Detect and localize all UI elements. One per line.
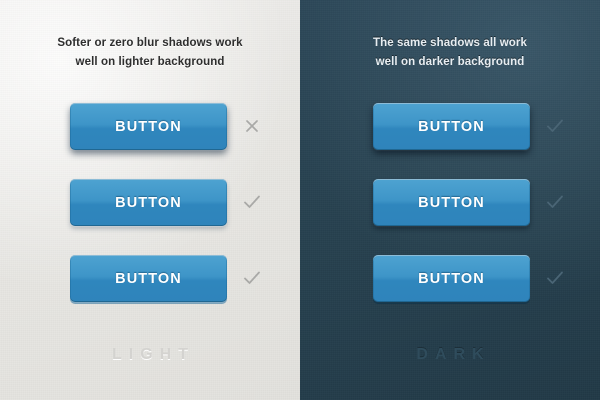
button-label: BUTTON [418,119,485,135]
button-light-zero-shadow[interactable]: BUTTON [70,255,227,302]
button-light-hard-shadow[interactable]: BUTTON [70,103,227,150]
panel-dark-rows: BUTTON BUTTON [300,103,600,331]
button-dark-zero-shadow[interactable]: BUTTON [373,255,530,302]
caption-line-2: well on darker background [300,53,600,72]
row-light-1: BUTTON [0,103,300,179]
button-label: BUTTON [418,271,485,287]
check-icon [543,190,567,214]
caption-line-1: The same shadows all work [300,34,600,53]
caption-line-2: well on lighter background [0,53,300,72]
row-light-2: BUTTON [0,179,300,255]
panel-light-theme-label: LIGHT [0,346,300,364]
panel-light-caption: Softer or zero blur shadows work well on… [0,34,300,72]
cross-icon [240,114,264,138]
comparison-stage: Softer or zero blur shadows work well on… [0,0,600,400]
row-dark-2: BUTTON [300,179,600,255]
panel-light-rows: BUTTON BUTTON [0,103,300,331]
caption-line-1: Softer or zero blur shadows work [0,34,300,53]
row-dark-3: BUTTON [300,255,600,331]
panel-dark-theme-label: DARK [300,346,600,364]
button-label: BUTTON [115,195,182,211]
check-icon [240,190,264,214]
check-icon [543,266,567,290]
row-dark-1: BUTTON [300,103,600,179]
check-icon [543,114,567,138]
button-dark-hard-shadow[interactable]: BUTTON [373,103,530,150]
panel-dark: The same shadows all work well on darker… [300,0,600,400]
check-icon [240,266,264,290]
button-label: BUTTON [115,271,182,287]
button-label: BUTTON [115,119,182,135]
button-dark-soft-shadow[interactable]: BUTTON [373,179,530,226]
button-label: BUTTON [418,195,485,211]
button-light-soft-shadow[interactable]: BUTTON [70,179,227,226]
panel-light: Softer or zero blur shadows work well on… [0,0,300,400]
panel-dark-caption: The same shadows all work well on darker… [300,34,600,72]
row-light-3: BUTTON [0,255,300,331]
